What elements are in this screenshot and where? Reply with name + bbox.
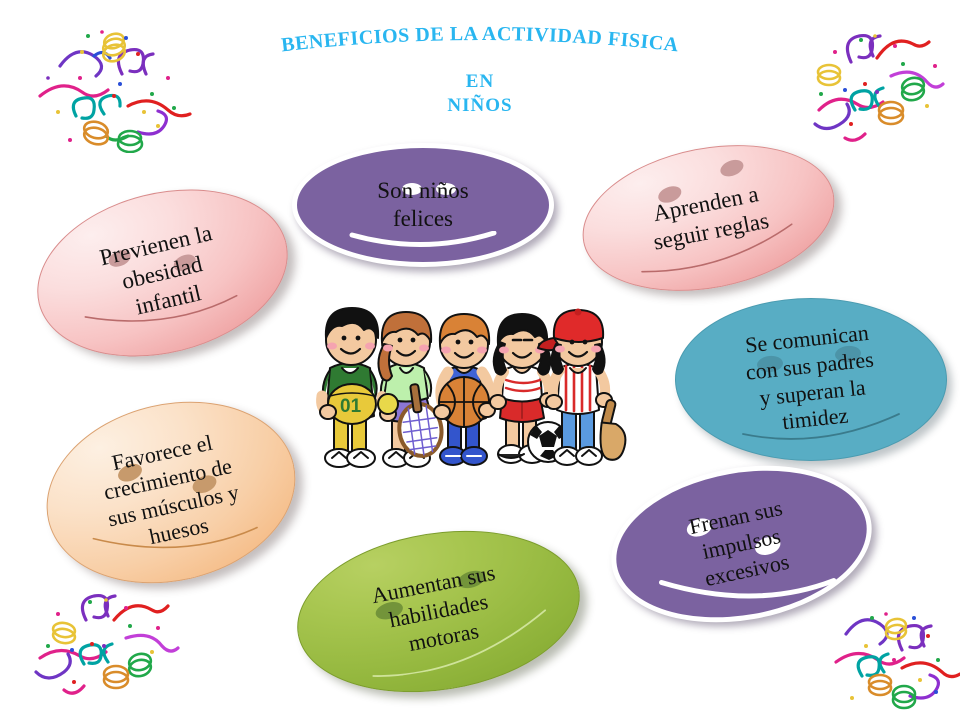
title-line-2: EN xyxy=(0,70,960,94)
children-sports-illustration: 01 xyxy=(308,292,628,487)
confetti-bottom-left xyxy=(18,586,193,716)
poster-title: BENEFICIOS DE LA ACTIVIDAD FISICA EN NIÑ… xyxy=(0,24,960,118)
benefit-bubble-se-comunican[interactable]: Se comunican con sus padres y superan la… xyxy=(675,298,947,461)
title-line-3: NIÑOS xyxy=(0,94,960,118)
svg-text:BENEFICIOS DE LA ACTIVIDAD FIS: BENEFICIOS DE LA ACTIVIDAD FISICA xyxy=(280,24,680,56)
benefit-bubble-aumentan-habilidades[interactable]: Aumentan sus habilidades motoras xyxy=(285,512,591,712)
benefit-bubble-previenen-obesidad[interactable]: Previenen la obesidad infantil xyxy=(19,165,305,382)
benefit-bubble-favorece-crecimiento[interactable]: Favorece el crecimiento de sus músculos … xyxy=(28,378,313,607)
poster-canvas: BENEFICIOS DE LA ACTIVIDAD FISICA EN NIÑ… xyxy=(0,0,960,720)
bubble-text: Son niños felices xyxy=(361,177,484,233)
benefit-bubble-son-ninos-felices[interactable]: Son niños felices xyxy=(292,143,554,267)
bubble-smile xyxy=(348,231,498,253)
benefit-bubble-frenan-impulsos[interactable]: Frenan sus impulsos excesivos xyxy=(599,446,884,641)
svg-text:01: 01 xyxy=(340,396,362,417)
benefit-bubble-aprenden-reglas[interactable]: Aprenden a seguir reglas xyxy=(570,125,847,311)
bubble-text: Se comunican con sus padres y superan la… xyxy=(726,318,897,441)
title-line-1: BENEFICIOS DE LA ACTIVIDAD FISICA xyxy=(280,24,680,56)
confetti-bottom-right xyxy=(828,584,960,719)
confetti-top-left xyxy=(18,8,198,153)
